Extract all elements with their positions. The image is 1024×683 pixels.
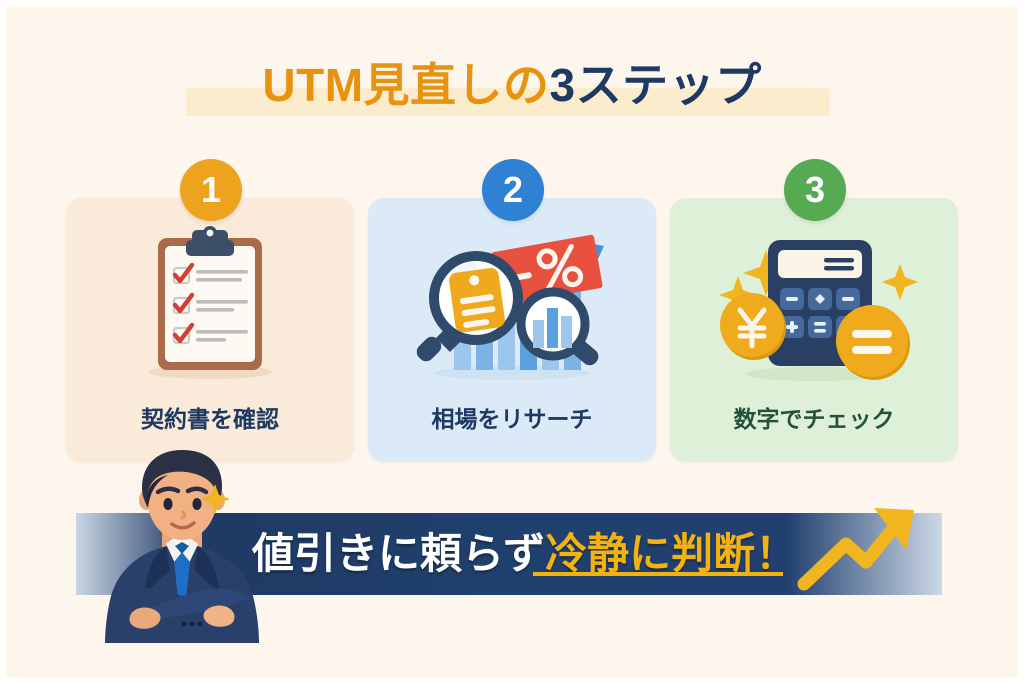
calculator-coins-icon — [670, 216, 958, 388]
step-badge-3: 3 — [784, 159, 846, 221]
step-card-3-label: 数字でチェック — [670, 400, 958, 434]
banner-text-gold: 冷静に判断！ — [545, 530, 797, 577]
page-title: UTM見直しの3ステップ — [0, 48, 1024, 122]
title-primary: UTM見直しの — [262, 59, 549, 111]
step-card-3[interactable]: 数字でチェック — [670, 198, 958, 462]
step-card-2-label: 相場をリサーチ — [368, 400, 656, 434]
step-badge-1: 1 — [180, 159, 242, 221]
sparkle-icon — [882, 264, 918, 300]
title-accent: 3ステップ — [550, 59, 762, 111]
businessman-arms-crossed-icon — [84, 448, 280, 643]
rising-arrow-icon — [800, 500, 924, 592]
steps-row: 契約書を確認 — [0, 198, 1024, 464]
step-card-1[interactable]: 契約書を確認 — [66, 198, 354, 462]
clipboard-checklist-icon — [66, 216, 354, 388]
sparkle-icon — [200, 484, 230, 514]
step-badge-2: 2 — [482, 159, 544, 221]
magnifier-price-chart-icon — [368, 216, 656, 388]
banner-underline — [533, 572, 783, 576]
infographic-canvas: UTM見直しの3ステップ — [0, 0, 1024, 683]
banner-text-white: 値引きに頼らず — [252, 530, 545, 577]
step-card-1-label: 契約書を確認 — [66, 400, 354, 434]
step-card-2[interactable]: 相場をリサーチ — [368, 198, 656, 462]
title-text: UTM見直しの3ステップ — [0, 48, 1024, 122]
